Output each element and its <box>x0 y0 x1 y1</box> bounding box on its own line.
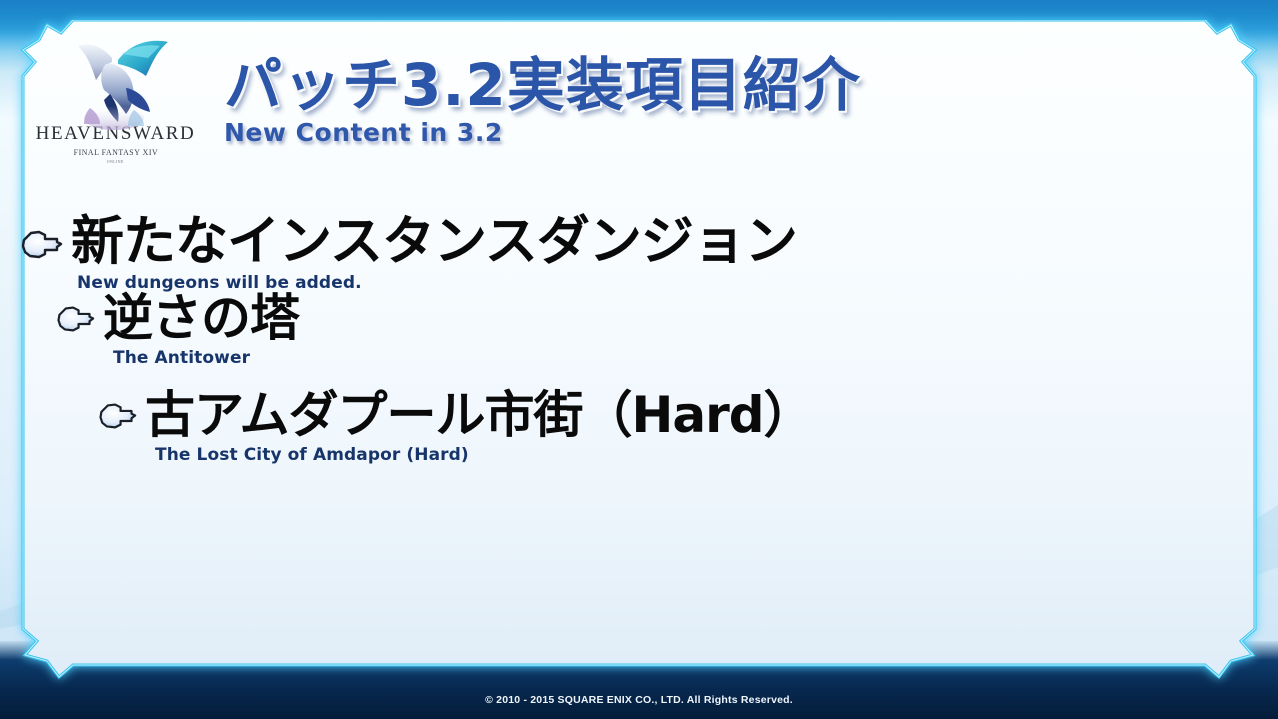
heavensward-dragon-icon <box>56 30 176 130</box>
list-item-title-en: The Lost City of Amdapor (Hard) <box>155 445 813 465</box>
pointing-hand-icon <box>17 227 63 261</box>
page-title-en: New Content in 3.2 <box>224 120 861 145</box>
logo-franchise: FINAL FANTASY XIV <box>73 147 157 157</box>
page-title-jp: パッチ3.2実装項目紹介 <box>224 56 861 114</box>
list-item-title-jp: 新たなインスタンスダンジョン <box>71 215 797 269</box>
presentation-slide: HEAVENSWARD FINAL FANTASY XIV ONLINE パッチ… <box>0 0 1278 719</box>
list-item: 新たなインスタンスダンジョン New dungeons will be adde… <box>17 215 1261 293</box>
list-item-title-en: The Antitower <box>113 348 299 368</box>
content-list: 新たなインスタンスダンジョン New dungeons will be adde… <box>17 215 1261 465</box>
logo-franchise-tagline: ONLINE <box>107 159 124 164</box>
pointing-hand-icon <box>53 303 95 334</box>
copyright-text: © 2010 - 2015 SQUARE ENIX CO., LTD. All … <box>485 694 793 706</box>
list-item-title-jp: 古アムダプール市街（Hard） <box>145 390 813 441</box>
list-item-title-jp: 逆さの塔 <box>103 293 299 344</box>
slide-title-block: パッチ3.2実装項目紹介 New Content in 3.2 <box>224 56 861 145</box>
list-item: 古アムダプール市街（Hard） The Lost City of Amdapor… <box>95 390 1261 465</box>
heavensward-logo: HEAVENSWARD FINAL FANTASY XIV ONLINE <box>43 30 188 175</box>
list-item: 逆さの塔 The Antitower <box>53 293 1261 368</box>
slide-footer: © 2010 - 2015 SQUARE ENIX CO., LTD. All … <box>0 681 1278 719</box>
pointing-hand-icon <box>95 400 137 431</box>
